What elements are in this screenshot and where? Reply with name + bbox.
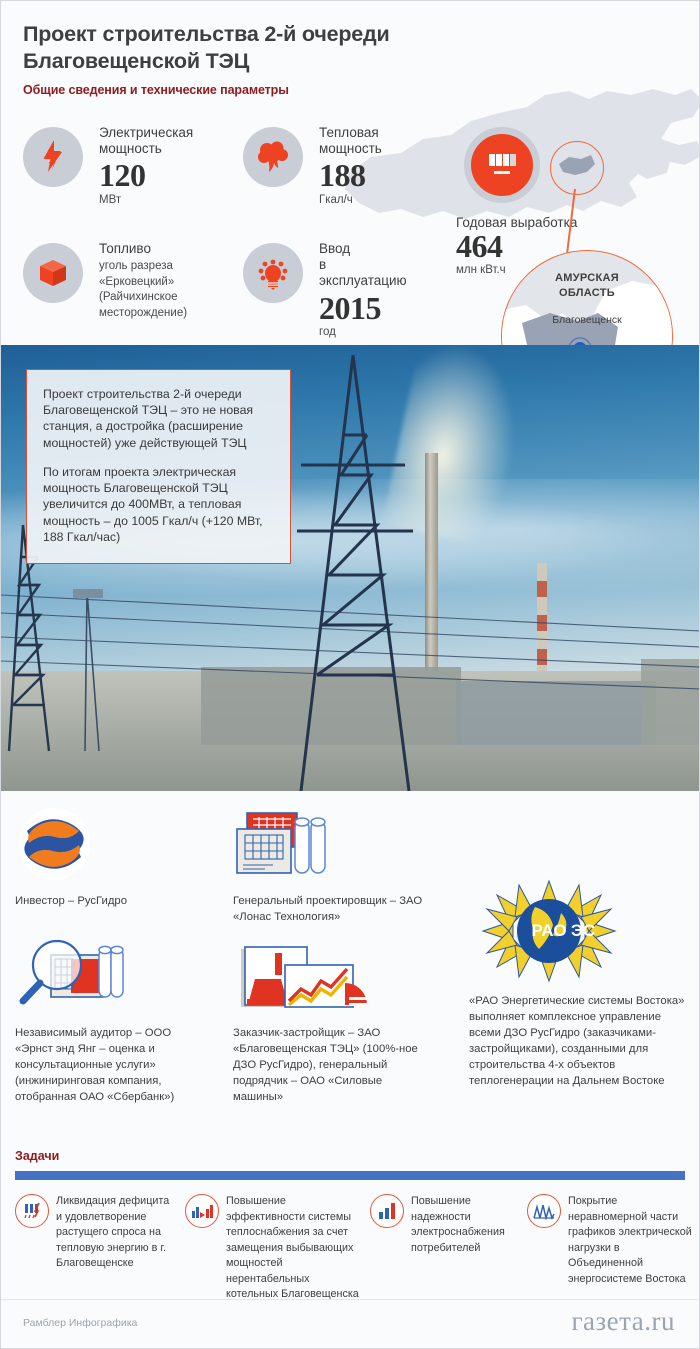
partner-customer: Заказчик-застройщик – ЗАО «Благовещенска… [233,937,433,1105]
section-subtitle: Общие сведения и технические параметры [23,83,289,97]
city-label: Благовещенск [502,314,672,326]
task-item-2: Повышение эффективности системы теплосна… [185,1194,360,1303]
partner-investor: Инвестор – РусГидро [15,805,215,909]
power-plant-photo: Проект строительства 2-й очереди Благове… [1,345,699,791]
stat-unit: Гкал/ч [319,194,382,206]
stat-unit: год [319,326,407,338]
plant-chart-icon [233,937,433,1015]
lighting-mast [73,589,103,751]
efficiency-transfer-icon [185,1194,219,1228]
map-region-highlight-circle [550,141,604,195]
project-description-box: Проект строительства 2-й очереди Благове… [26,369,291,564]
pylon-center [297,355,413,791]
infographic-page: Проект строительства 2-й очереди Благове… [0,0,700,1349]
coal-cube-icon [23,243,83,303]
stat-value: 2015 [319,292,407,326]
stat-label: Ввод в эксплуатацию [319,241,407,290]
load-peaks-icon [527,1194,561,1228]
rao-es-vostoka-logo-icon: РАО ЭС [469,879,687,983]
stat-value: 120 [99,159,193,193]
page-title: Проект строительства 2-й очереди Благове… [23,21,493,75]
partner-text: «РАО Энергетические системы Востока» вып… [469,993,687,1089]
bar-chart-icon [370,1194,404,1228]
partner-text: Генеральный проектировщик – ЗАО «Лонас Т… [233,893,448,925]
amur-region-callout: АМУРСКАЯ ОБЛАСТЬ Благовещенск [501,250,673,345]
stat-note: уголь разреза «Ерковецкий» (Райчихинское… [99,259,187,322]
stat-label: Тепловая мощность [319,125,382,157]
partner-general-designer: Генеральный проектировщик – ЗАО «Лонас Т… [233,805,448,925]
stat-value: 188 [319,159,382,193]
steam-cloud-icon [243,127,303,187]
heat-deficit-icon [15,1194,49,1228]
blueprint-rolls-icon [233,805,448,883]
tasks-divider-bar [15,1171,685,1180]
tasks-list: Ликвидация дефицита и удовлетворение рас… [15,1194,685,1314]
city-marker-icon [566,335,606,345]
stat-unit: МВт [99,194,193,206]
partner-text: Заказчик-застройщик – ЗАО «Благовещенска… [233,1025,433,1105]
partner-auditor: Независимый аудитор – ООО «Эрнст энд Янг… [15,937,205,1105]
page-footer: Рамблер Инфографика газета.ru [1,1299,699,1348]
magnifier-audit-icon [15,937,205,1015]
task-item-1: Ликвидация дефицита и удовлетворение рас… [15,1194,175,1272]
description-paragraph-1: Проект строительства 2-й очереди Благове… [43,386,274,451]
energy-meter-icon [464,127,540,203]
region-name-label: АМУРСКАЯ ОБЛАСТЬ [502,271,672,301]
partner-rao-es: РАО ЭС «РАО Энергетические системы Восто… [469,879,687,1089]
task-text: Повышение эффективности системы теплосна… [226,1194,360,1303]
partners-section: Инвестор – РусГидро [1,791,699,1149]
overview-section: Проект строительства 2-й очереди Благове… [1,1,699,345]
svg-text:РАО: РАО [531,921,566,940]
lightbulb-icon [243,243,303,303]
stat-label: Электрическая мощность [99,125,193,157]
stat-label: Топливо [99,241,187,257]
brand-logo: газета.ru [571,1306,675,1337]
task-text: Ликвидация дефицита и удовлетворение рас… [56,1194,175,1272]
partner-text: Независимый аудитор – ООО «Эрнст энд Янг… [15,1025,205,1105]
rushydro-logo-icon [15,805,215,883]
task-item-3: Повышение надежности электроснабжения по… [370,1194,505,1256]
source-label: Рамблер Инфографика [23,1317,137,1329]
task-text: Повышение надежности электроснабжения по… [411,1194,505,1256]
partner-text: Инвестор – РусГидро [15,893,215,909]
lightning-bolt-icon [23,127,83,187]
task-text: Покрытие неравномерной части графиков эл… [568,1194,692,1287]
svg-text:ЭС: ЭС [571,921,595,940]
tasks-section: Задачи Ликвидация дефицита и удовлетворе… [1,1149,699,1314]
description-paragraph-2: По итогам проекта электрическая мощность… [43,464,274,545]
task-item-4: Покрытие неравномерной части графиков эл… [527,1194,692,1287]
tasks-heading: Задачи [15,1149,685,1163]
